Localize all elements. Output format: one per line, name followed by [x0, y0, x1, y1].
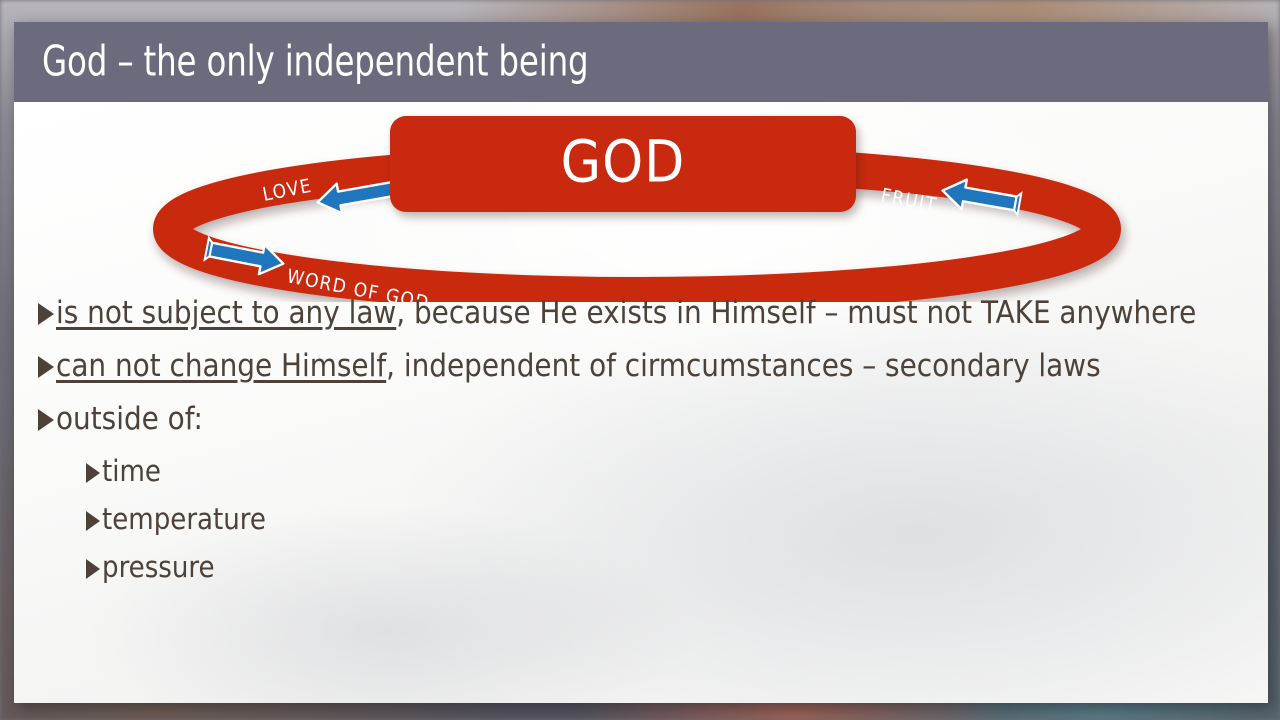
god-label: GOD: [390, 133, 856, 191]
bullet-rest: temperature: [102, 502, 266, 536]
triangle-bullet-icon: [38, 356, 54, 378]
slide-title-bar: God – the only independent being: [14, 22, 1268, 102]
triangle-bullet-icon: [38, 303, 54, 325]
god-center-box: GOD: [390, 116, 856, 212]
triangle-bullet-icon: [86, 511, 100, 531]
triangle-bullet-icon: [86, 463, 100, 483]
bullet-emphasis: is not subject to any law: [56, 295, 396, 331]
bullet-rest: outside of:: [56, 401, 203, 437]
bullet-item: time: [86, 457, 1218, 486]
bullet-item: is not subject to any law, because He ex…: [38, 298, 1218, 329]
god-cycle-diagram: LOVE FRUIT WORD OF GOD: [14, 102, 1268, 302]
triangle-bullet-icon: [86, 559, 100, 579]
slide-body: LOVE FRUIT WORD OF GOD: [14, 102, 1268, 703]
bullet-text: time: [102, 457, 161, 486]
bullet-text: pressure: [102, 553, 215, 582]
bullet-item: pressure: [86, 553, 1218, 582]
page-title: God – the only independent being: [42, 37, 588, 86]
bullet-rest: , independent of cirmcumstances – second…: [386, 348, 1100, 384]
bullet-rest: pressure: [102, 550, 215, 584]
bullet-text: temperature: [102, 505, 266, 534]
bullet-rest: , because He exists in Himself – must no…: [396, 295, 1196, 331]
bullet-item: temperature: [86, 505, 1218, 534]
bullet-item: outside of:: [38, 404, 1218, 435]
presentation-slide: God – the only independent being LOVE FR…: [14, 22, 1268, 703]
bullet-item: can not change Himself, independent of c…: [38, 351, 1218, 382]
bullet-text: outside of:: [56, 404, 203, 435]
bullet-text: is not subject to any law, because He ex…: [56, 298, 1196, 329]
bullet-list: is not subject to any law, because He ex…: [38, 298, 1218, 601]
triangle-bullet-icon: [38, 409, 54, 431]
bullet-text: can not change Himself, independent of c…: [56, 351, 1101, 382]
bullet-rest: time: [102, 454, 161, 488]
bullet-emphasis: can not change Himself: [56, 348, 386, 384]
